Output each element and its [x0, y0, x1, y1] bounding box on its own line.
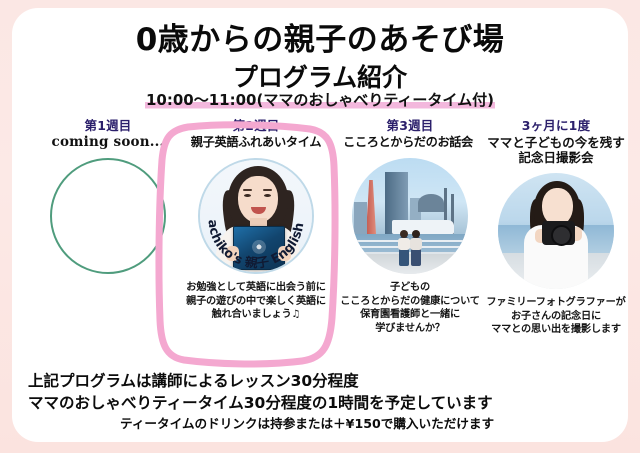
program-name-line2: 記念日撮影会 — [480, 150, 632, 165]
media-circle-week3 — [352, 158, 468, 274]
week-label: 第1週目 — [32, 118, 184, 133]
camera-lens — [551, 225, 572, 246]
description-line: ママとの思い出を撮影します — [478, 323, 634, 337]
footer-line-3: ティータイムのドリンクは持参または＋¥150で購入いただけます — [0, 414, 640, 434]
footer-notes: 上記プログラムは講師によるレッスン30分程度 ママのおしゃべりティータイム30分… — [0, 370, 640, 434]
building-small-left — [354, 202, 367, 234]
program-time: 10:00〜11:00(ママのおしゃべりティータイム付) — [0, 89, 640, 110]
program-columns: 第1週目 coming soon... 第2週目 親子英語ふれあいタイム — [14, 118, 626, 368]
child-right-shirt — [410, 238, 422, 250]
program-time-text: 10:00〜11:00(ママのおしゃべりティータイム付) — [145, 91, 495, 109]
promenade-deck — [352, 252, 468, 274]
footer-line-2: ママのおしゃべりティータイム30分程度の1時間を予定しています — [0, 392, 640, 414]
arc-brand-textpath: Sachiko's 親子 English ♪ — [198, 158, 307, 272]
arc-label-svg: Sachiko's 親子 English ♪ — [200, 160, 312, 272]
program-column-quarterly[interactable]: 3ヶ月に1度 ママと子どもの今を残す 記念日撮影会 — [480, 118, 632, 337]
child-left-shirt — [398, 238, 410, 250]
port-tower — [366, 180, 376, 234]
description-line: 触れ合いましょう♫ — [178, 308, 334, 322]
program-column-week2[interactable]: 第2週目 親子英語ふれあいタイム — [180, 118, 332, 322]
media-circle-quarterly — [498, 173, 614, 289]
week-label: 第2週目 — [180, 118, 332, 133]
media-circle-week2: Sachiko's 親子 English ♪ — [198, 158, 314, 274]
footer-line-1: 上記プログラムは講師によるレッスン30分程度 — [0, 370, 640, 392]
child-right-head — [412, 230, 420, 238]
photo-woman-with-blue-book: Sachiko's 親子 English ♪ — [198, 158, 314, 274]
illustration-photographer — [498, 173, 614, 289]
description-line: 保育園看護師と一緒に — [335, 308, 485, 322]
description-line: ファミリーフォトグラファーが — [478, 296, 634, 310]
description-line: 親子の遊びの中で楽しく英語に — [178, 295, 334, 309]
program-description: お勉強として英語に出会う前に 親子の遊びの中で楽しく英語に 触れ合いましょう♫ — [178, 281, 334, 322]
illustration-harbor — [352, 158, 468, 274]
program-name: ママと子どもの今を残す 記念日撮影会 — [480, 135, 632, 165]
media-circle-week1 — [50, 158, 166, 274]
empty-circle-placeholder — [50, 158, 166, 274]
program-name: coming soon... — [32, 135, 184, 150]
description-line: 学びませんか？ — [335, 322, 485, 336]
program-description: ファミリーフォトグラファーが お子さんの記念日に ママとの思い出を撮影します — [478, 296, 634, 337]
description-line: お子さんの記念日に — [478, 310, 634, 324]
week-label: 第3週目 — [334, 118, 486, 133]
photo-photographer-sea — [498, 173, 614, 289]
week-label: 3ヶ月に1度 — [480, 118, 632, 133]
page-title: 0歳からの親子のあそび場 — [0, 14, 640, 59]
program-column-week3[interactable]: 第3週目 こころとからだのお話会 — [334, 118, 486, 335]
program-name: こころとからだのお話会 — [330, 135, 486, 150]
flyer-root: 0歳からの親子のあそび場 プログラム紹介 10:00〜11:00(ママのおしゃべ… — [0, 0, 640, 453]
dome-roof — [418, 194, 444, 212]
photo-harbor-children — [352, 158, 468, 274]
program-column-week1[interactable]: 第1週目 coming soon... — [32, 118, 184, 274]
program-description: 子どもの こころとからだの健康について 保育園看護師と一緒に 学びませんか？ — [335, 281, 485, 335]
program-name-line1: ママと子どもの今を残す — [480, 135, 632, 150]
description-line: お勉強として英語に出会う前に — [178, 281, 334, 295]
description-line: こころとからだの健康について — [335, 295, 485, 309]
program-name: 親子英語ふれあいタイム — [180, 135, 332, 150]
railing-bar-3 — [352, 252, 468, 254]
description-line: 子どもの — [335, 281, 485, 295]
arc-brand-text: Sachiko's 親子 English ♪ — [198, 158, 307, 272]
child-left-head — [400, 230, 408, 238]
